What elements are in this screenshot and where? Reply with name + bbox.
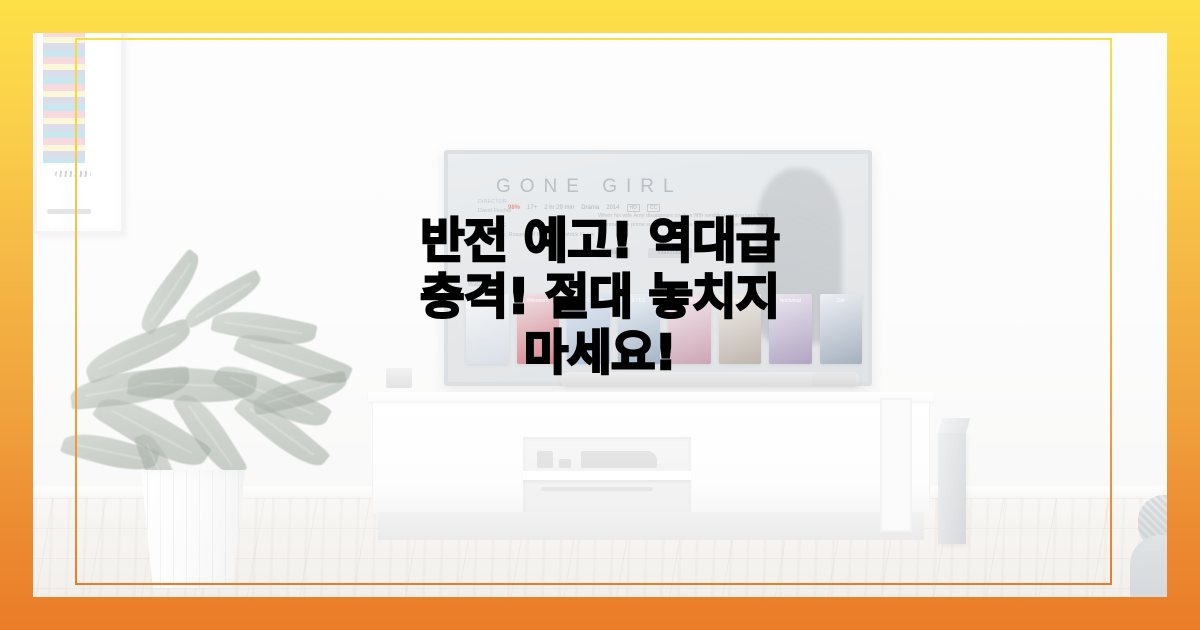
media-device — [812, 372, 856, 387]
media-console — [368, 392, 934, 544]
artwork-caption — [47, 209, 91, 214]
tv-poster-title: Big Little Lies — [674, 298, 704, 304]
armchair-body — [1130, 535, 1200, 607]
artwork-stripes — [43, 23, 85, 163]
console-item-cable — [541, 487, 653, 491]
tv-synopsis: When his wife Amy disappears on their fi… — [598, 212, 788, 229]
tv-credit-value: David Fincher — [478, 208, 512, 214]
tv-poster-title: The Girl on the Train — [466, 298, 509, 310]
tv-poster[interactable]: Sharp Objects — [567, 294, 610, 364]
thumbnail-canvas: GONE GIRL 98% 17+ 2 hr 29 min Drama 2014… — [0, 0, 1200, 630]
tv-poster-title: Sharp Objects — [572, 298, 604, 304]
potted-plant — [62, 262, 362, 592]
tv-poster[interactable]: The Girl on the Train — [466, 294, 509, 364]
tv-poster[interactable]: Big Little Lies — [668, 294, 711, 364]
tv-poster-row: The Girl on the Train Prisoners Sharp Ob… — [466, 294, 862, 364]
console-item-box — [537, 451, 553, 468]
tv-poster-title: Girl — [837, 298, 845, 304]
tv-credit-label: STARRING — [478, 223, 506, 229]
tv-poster[interactable]: Nocturnal — [769, 294, 812, 364]
tv-program-title: GONE GIRL — [496, 176, 683, 198]
console-shelf — [523, 471, 691, 480]
console-open-compartment — [523, 437, 691, 517]
tv-poster-title: The Gift — [731, 298, 749, 304]
tv-play-button[interactable]: Play — [598, 248, 630, 258]
tv-watchlist-button[interactable]: Watchlist — [648, 248, 692, 258]
console-plinth — [378, 512, 924, 540]
floor-speaker — [938, 432, 966, 544]
tv-shelf-label: Watch Next — [468, 282, 499, 288]
tv-poster-title: EYES — [632, 298, 645, 304]
tv-stand-foot — [386, 368, 412, 388]
tv-screen: GONE GIRL 98% 17+ 2 hr 29 min Drama 2014… — [448, 154, 868, 382]
tv-poster-title: Nocturnal — [780, 298, 801, 304]
wall-artwork — [34, 18, 124, 234]
tv-poster[interactable]: EYES — [618, 294, 661, 364]
artwork-signature — [55, 171, 91, 177]
console-body — [372, 402, 930, 514]
tv-poster-title: Prisoners — [527, 298, 548, 304]
console-item-remote — [559, 459, 571, 468]
television: GONE GIRL 98% 17+ 2 hr 29 min Drama 2014… — [444, 150, 872, 386]
tv-credit-label: DIRECTOR — [478, 199, 507, 205]
background-photo: GONE GIRL 98% 17+ 2 hr 29 min Drama 2014… — [0, 0, 1200, 630]
tv-poster[interactable]: The Gift — [719, 294, 762, 364]
tv-poster[interactable]: Girl — [820, 294, 863, 364]
tv-credit-value: Ben Affleck, Rosamund Pike, Neil Patrick… — [478, 232, 594, 238]
tv-poster[interactable]: Prisoners — [517, 294, 560, 364]
console-top — [368, 392, 934, 402]
right-wall-frame — [880, 398, 912, 532]
console-item-console — [581, 451, 657, 468]
tv-action-buttons: Play Watchlist — [598, 248, 692, 258]
plant-pot — [134, 470, 252, 588]
